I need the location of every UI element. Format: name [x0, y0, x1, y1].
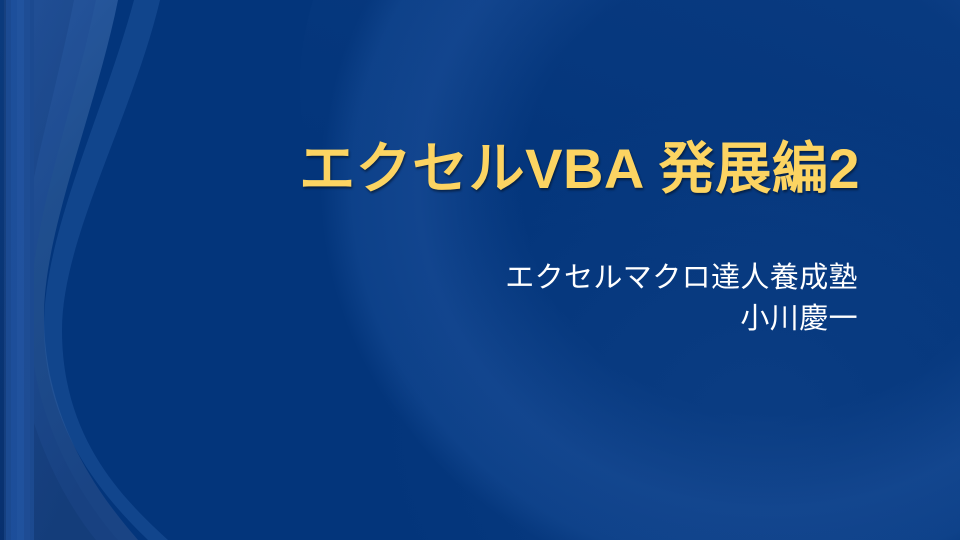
- presentation-slide: エクセルVBA 発展編2 エクセルマクロ達人養成塾 小川慶一: [0, 0, 960, 540]
- subtitle-line-author: 小川慶一: [300, 299, 858, 340]
- subtitle-line-organization: エクセルマクロ達人養成塾: [300, 258, 858, 299]
- slide-title: エクセルVBA 発展編2: [120, 138, 860, 201]
- slide-subtitle: エクセルマクロ達人養成塾 小川慶一: [300, 258, 858, 340]
